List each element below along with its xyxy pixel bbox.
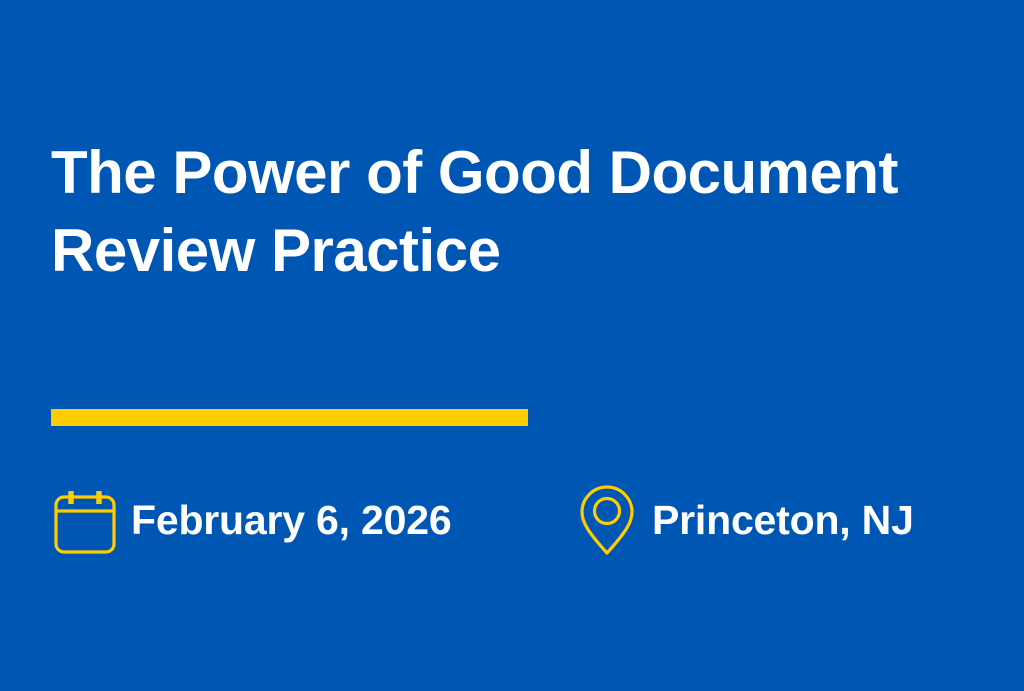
map-pin-icon (578, 482, 636, 558)
event-location-text: Princeton, NJ (652, 497, 914, 544)
calendar-icon (51, 484, 119, 556)
event-banner: The Power of Good Document Review Practi… (0, 0, 1024, 691)
event-meta-row: February 6, 2026 Princeton, NJ (51, 480, 981, 560)
event-location: Princeton, NJ (578, 480, 914, 560)
event-date-text: February 6, 2026 (131, 497, 451, 544)
event-date: February 6, 2026 (51, 480, 451, 560)
accent-divider (51, 409, 528, 426)
title-block: The Power of Good Document Review Practi… (51, 134, 931, 290)
page-title: The Power of Good Document Review Practi… (51, 134, 931, 290)
